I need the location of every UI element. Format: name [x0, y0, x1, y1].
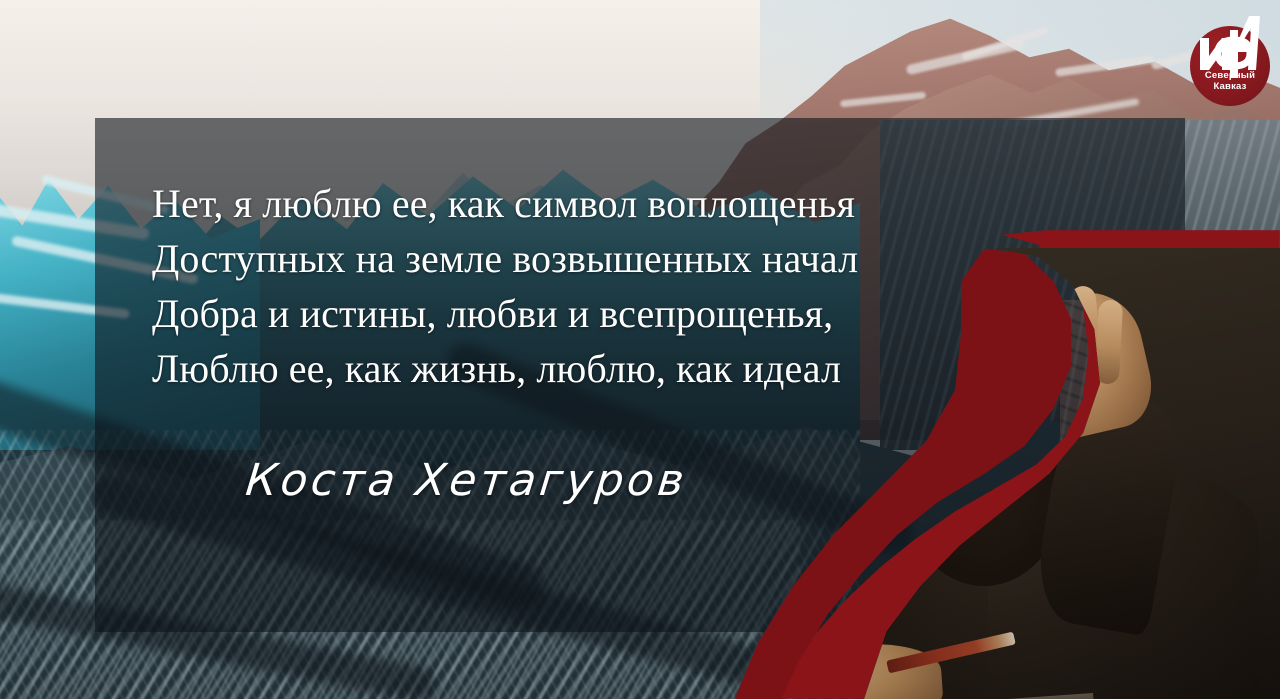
portrait-cutout [700, 230, 1280, 699]
logo-subtitle-line-2: Кавказ [1186, 81, 1274, 92]
logo-subtitle-line-1: Северный [1186, 70, 1274, 81]
hair-side [884, 340, 930, 450]
quote-line-1: Нет, я люблю ее, как символ воплощенья [152, 176, 982, 231]
quote-card: Нет, я люблю ее, как символ воплощенья Д… [0, 0, 1280, 699]
aif-logo[interactable]: Северный Кавказ [1186, 8, 1274, 104]
logo-subtitle: Северный Кавказ [1186, 70, 1274, 92]
author-signature: Коста Хетагуров [243, 455, 690, 506]
